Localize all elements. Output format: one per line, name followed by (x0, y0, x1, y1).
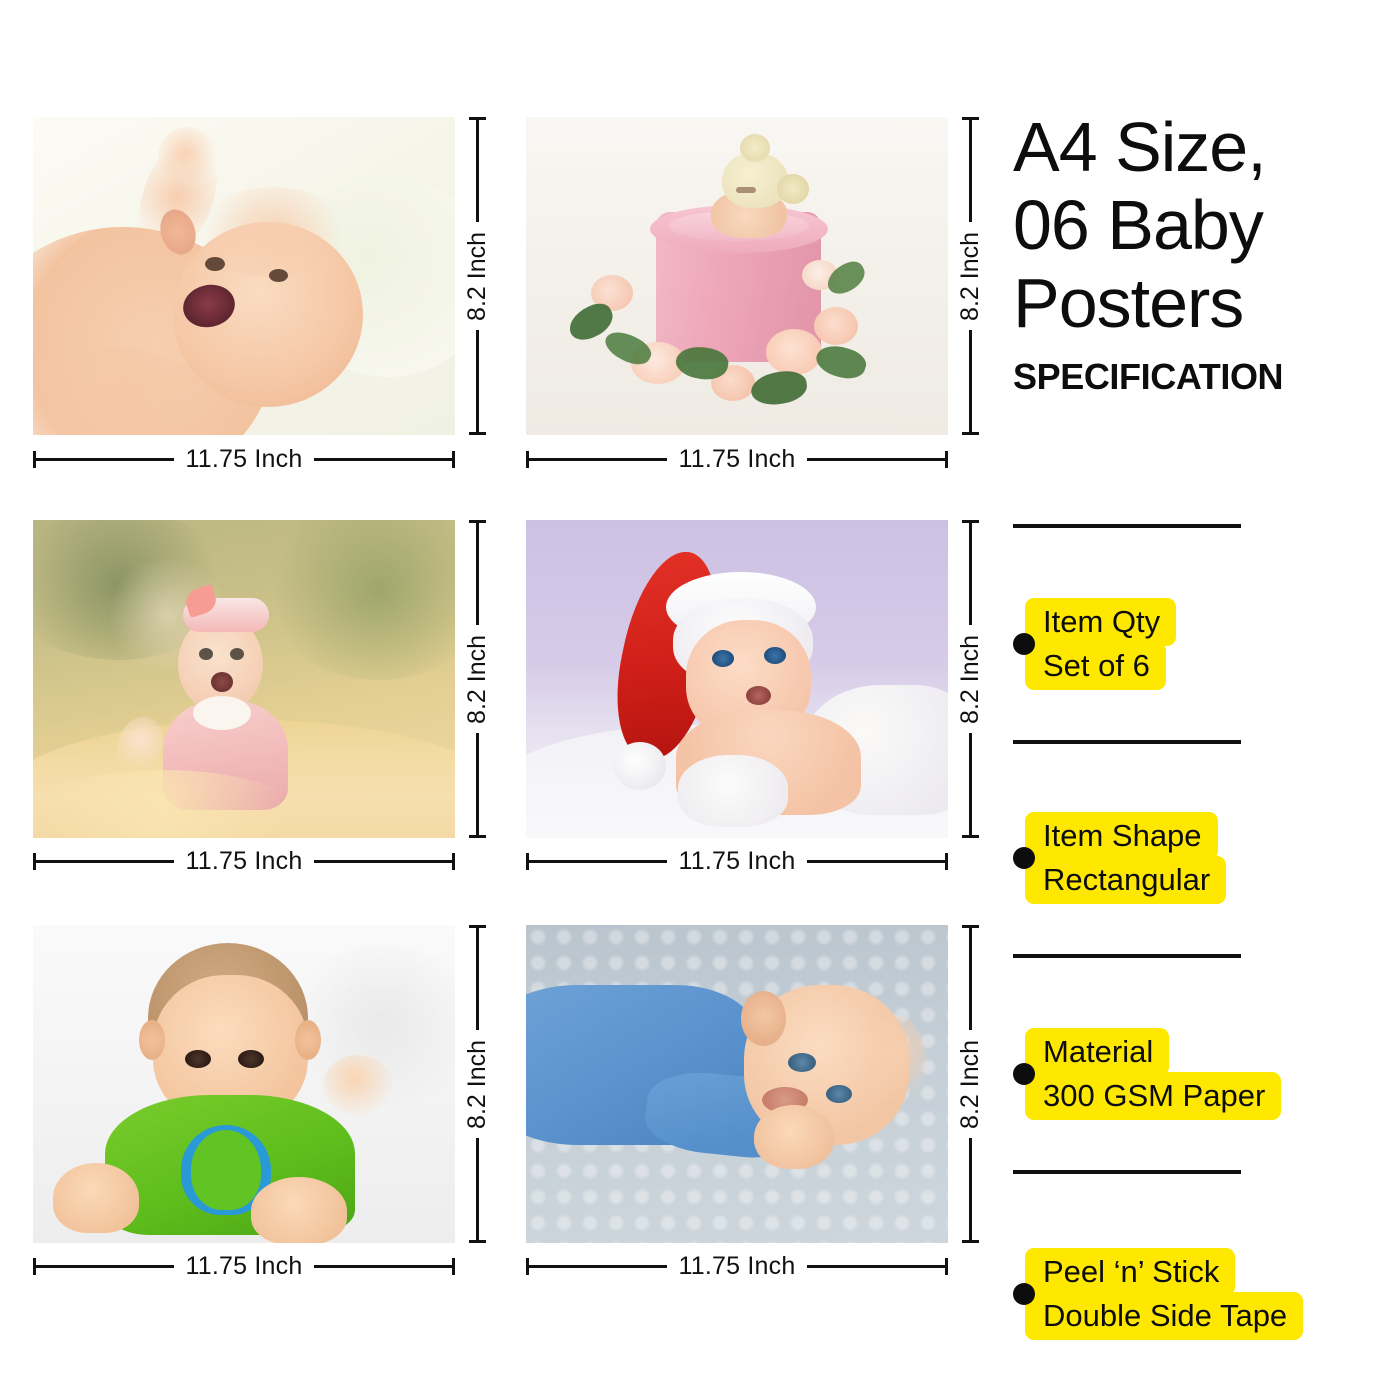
poster-cell-5 (33, 925, 455, 1243)
poster-cell-3 (33, 520, 455, 838)
spec-value-item-qty: Set of 6 (1025, 642, 1166, 690)
poster-1-height-label: 8.2 Inch (463, 222, 492, 331)
poster-5-width-dimension: 11.75 Inch (33, 1251, 455, 1281)
poster-1-width-label: 11.75 Inch (174, 445, 315, 474)
poster-2-width-label: 11.75 Inch (667, 445, 808, 474)
poster-5-height-label: 8.2 Inch (463, 1030, 492, 1139)
spec-item-peel-n-stick: Peel ‘n’ Stick Double Side Tape (1008, 1248, 1303, 1340)
poster-image-3 (33, 520, 455, 838)
poster-1-height-dimension: 8.2 Inch (462, 117, 492, 435)
poster-2-height-dimension: 8.2 Inch (955, 117, 985, 435)
spec-label-item-qty: Item Qty (1025, 598, 1176, 646)
poster-5-width-label: 11.75 Inch (174, 1252, 315, 1281)
spec-divider-4 (1013, 1170, 1241, 1174)
poster-3-height-label: 8.2 Inch (463, 625, 492, 734)
spec-label-peel-n-stick: Peel ‘n’ Stick (1025, 1248, 1235, 1296)
title-line-2: 06 Baby (1013, 186, 1283, 264)
specification-panel: A4 Size, 06 Baby Posters SPECIFICATION I… (1008, 0, 1400, 1400)
spec-label-material: Material (1025, 1028, 1169, 1076)
poster-1-width-dimension: 11.75 Inch (33, 444, 455, 474)
title-line-1: A4 Size, (1013, 108, 1283, 186)
spec-bullet-icon (1013, 1283, 1035, 1305)
poster-4-height-label: 8.2 Inch (956, 625, 985, 734)
poster-4-width-dimension: 11.75 Inch (526, 846, 948, 876)
poster-cell-4 (526, 520, 948, 838)
poster-2-width-dimension: 11.75 Inch (526, 444, 948, 474)
spec-divider-3 (1013, 954, 1241, 958)
poster-cell-1 (33, 117, 455, 435)
spec-value-item-shape: Rectangular (1025, 856, 1226, 904)
poster-5-height-dimension: 8.2 Inch (462, 925, 492, 1243)
title-line-3: Posters (1013, 264, 1283, 342)
poster-4-width-label: 11.75 Inch (667, 847, 808, 876)
specification-heading: SPECIFICATION (1013, 356, 1283, 398)
poster-6-width-dimension: 11.75 Inch (526, 1251, 948, 1281)
poster-image-1 (33, 117, 455, 435)
poster-6-width-label: 11.75 Inch (667, 1252, 808, 1281)
spec-bullet-icon (1013, 633, 1035, 655)
poster-image-2 (526, 117, 948, 435)
infographic-canvas: 8.2 Inch 11.75 Inch (0, 0, 1400, 1400)
spec-value-peel-n-stick: Double Side Tape (1025, 1292, 1303, 1340)
poster-6-height-dimension: 8.2 Inch (955, 925, 985, 1243)
poster-3-height-dimension: 8.2 Inch (462, 520, 492, 838)
poster-6-height-label: 8.2 Inch (956, 1030, 985, 1139)
poster-2-height-label: 8.2 Inch (956, 222, 985, 331)
spec-divider-1 (1013, 524, 1241, 528)
poster-3-width-label: 11.75 Inch (174, 847, 315, 876)
poster-4-height-dimension: 8.2 Inch (955, 520, 985, 838)
spec-item-item-shape: Item Shape Rectangular (1008, 812, 1226, 904)
poster-image-6 (526, 925, 948, 1243)
poster-image-5 (33, 925, 455, 1243)
spec-value-material: 300 GSM Paper (1025, 1072, 1281, 1120)
poster-cell-2 (526, 117, 948, 435)
poster-image-4 (526, 520, 948, 838)
poster-cell-6 (526, 925, 948, 1243)
spec-item-item-qty: Item Qty Set of 6 (1008, 598, 1176, 690)
spec-divider-2 (1013, 740, 1241, 744)
spec-bullet-icon (1013, 847, 1035, 869)
spec-bullet-icon (1013, 1063, 1035, 1085)
page-title: A4 Size, 06 Baby Posters SPECIFICATION (1013, 108, 1283, 398)
poster-3-width-dimension: 11.75 Inch (33, 846, 455, 876)
spec-item-material: Material 300 GSM Paper (1008, 1028, 1281, 1120)
spec-label-item-shape: Item Shape (1025, 812, 1218, 860)
